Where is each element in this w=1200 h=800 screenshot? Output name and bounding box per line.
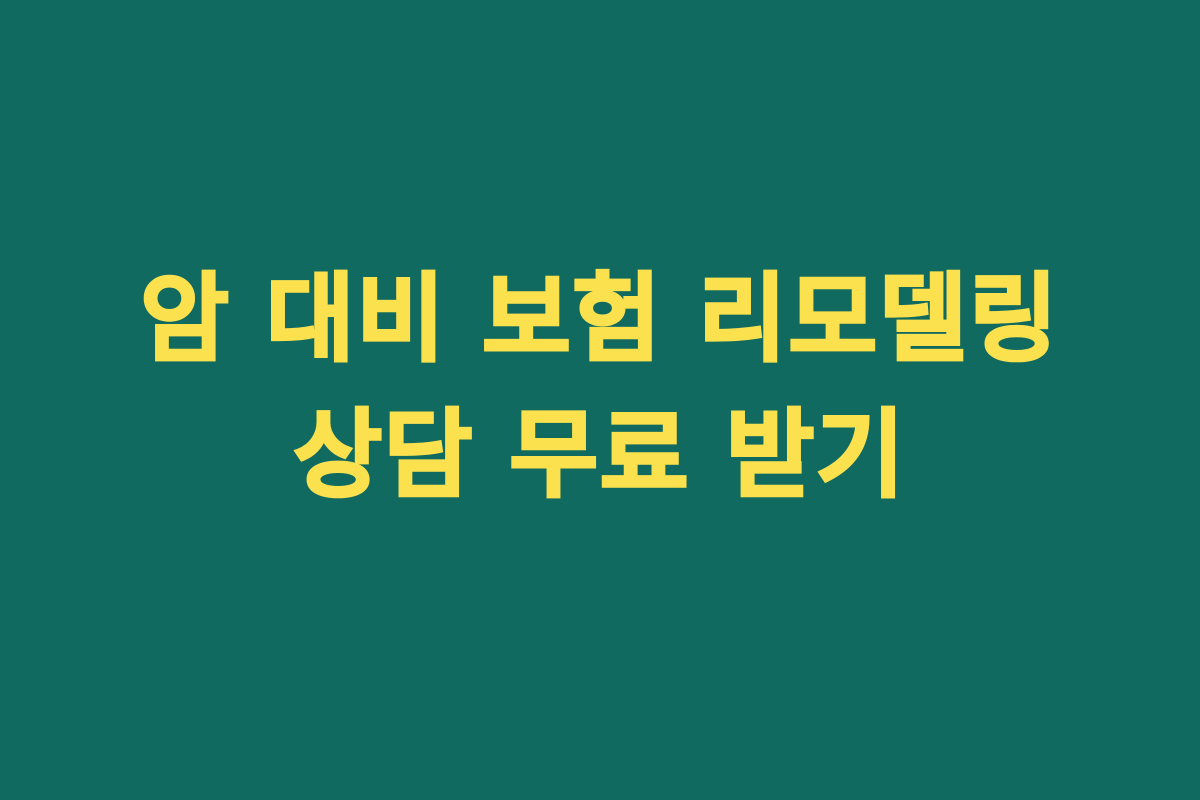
headline-line-1: 암 대비 보험 리모델링	[140, 251, 1059, 387]
headline-line-2: 상담 무료 받기	[294, 387, 907, 523]
promo-banner: 암 대비 보험 리모델링 상담 무료 받기	[0, 0, 1200, 800]
headline-block: 암 대비 보험 리모델링 상담 무료 받기	[0, 251, 1200, 524]
